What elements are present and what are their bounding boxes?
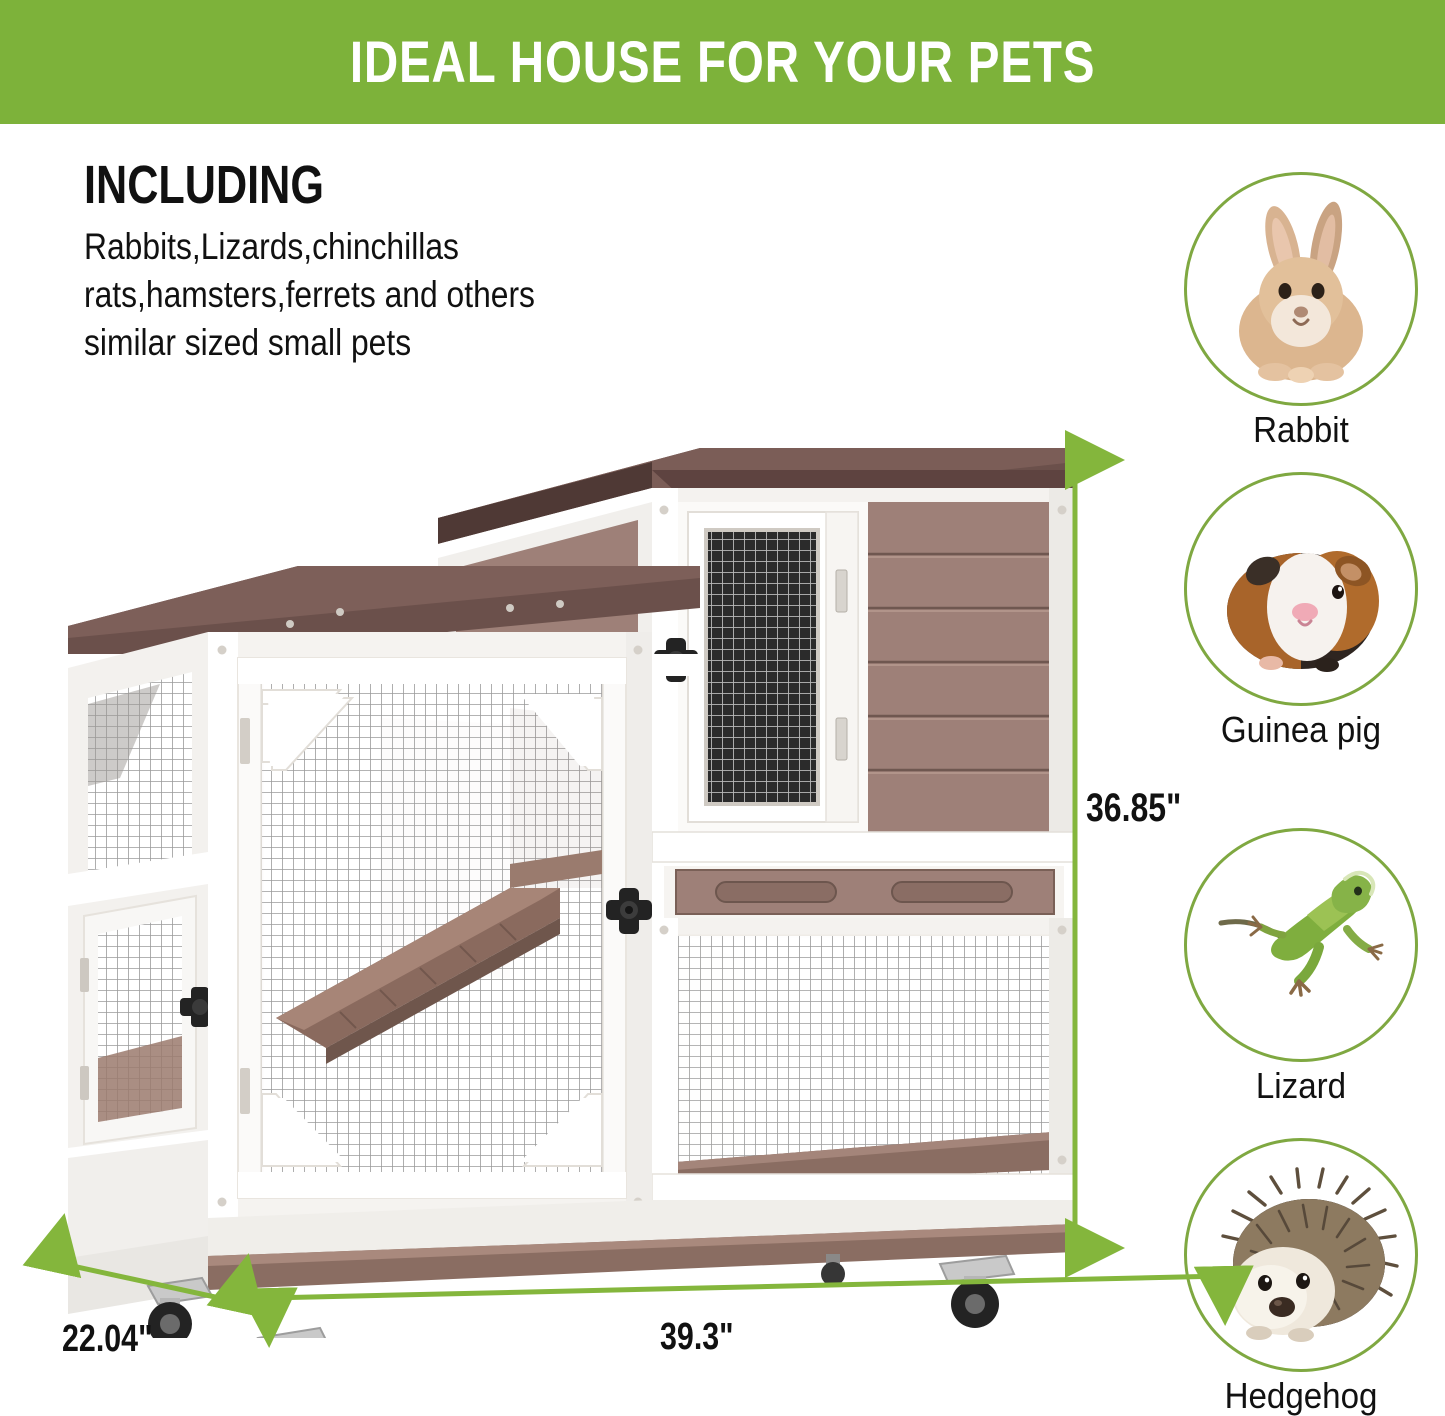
pet-ring xyxy=(1184,1138,1418,1372)
including-block: INCLUDING Rabbits,Lizards,chinchillas ra… xyxy=(84,158,844,367)
including-line-1: Rabbits,Lizards,chinchillas xyxy=(84,223,738,271)
pet-ring xyxy=(1184,172,1418,406)
page-title: IDEAL HOUSE FOR YOUR PETS xyxy=(350,29,1095,96)
hedgehog-icon xyxy=(1187,1141,1415,1369)
caster-front-right xyxy=(258,1328,330,1338)
including-line-2: rats,hamsters,ferrets and others xyxy=(84,271,738,319)
pet-label: Hedgehog xyxy=(1186,1376,1416,1416)
pet-card-guinea-pig: Guinea pig xyxy=(1176,472,1426,750)
rabbit-icon xyxy=(1187,175,1415,403)
pet-label: Rabbit xyxy=(1186,410,1416,450)
pet-label: Guinea pig xyxy=(1186,710,1416,750)
caster-rear-right xyxy=(940,1256,1014,1328)
product-image xyxy=(40,418,1100,1338)
height-dimension-label: 36.85" xyxy=(1086,786,1181,831)
header-banner: IDEAL HOUSE FOR YOUR PETS xyxy=(0,0,1445,124)
guinea-pig-icon xyxy=(1187,475,1415,703)
caster-front-left xyxy=(148,1278,212,1338)
pet-ring xyxy=(1184,828,1418,1062)
including-line-3: similar sized small pets xyxy=(84,319,738,367)
pet-label: Lizard xyxy=(1186,1066,1416,1106)
including-heading: INCLUDING xyxy=(84,158,692,213)
rabbit-hutch-illustration xyxy=(40,418,1100,1338)
pet-card-rabbit: Rabbit xyxy=(1176,172,1426,450)
pet-card-hedgehog: Hedgehog xyxy=(1176,1138,1426,1416)
depth-dimension-label: 22.04" xyxy=(62,1318,152,1361)
pet-card-lizard: Lizard xyxy=(1176,828,1426,1106)
pet-ring xyxy=(1184,472,1418,706)
width-dimension-label: 39.3" xyxy=(660,1316,734,1359)
lizard-icon xyxy=(1187,831,1415,1059)
